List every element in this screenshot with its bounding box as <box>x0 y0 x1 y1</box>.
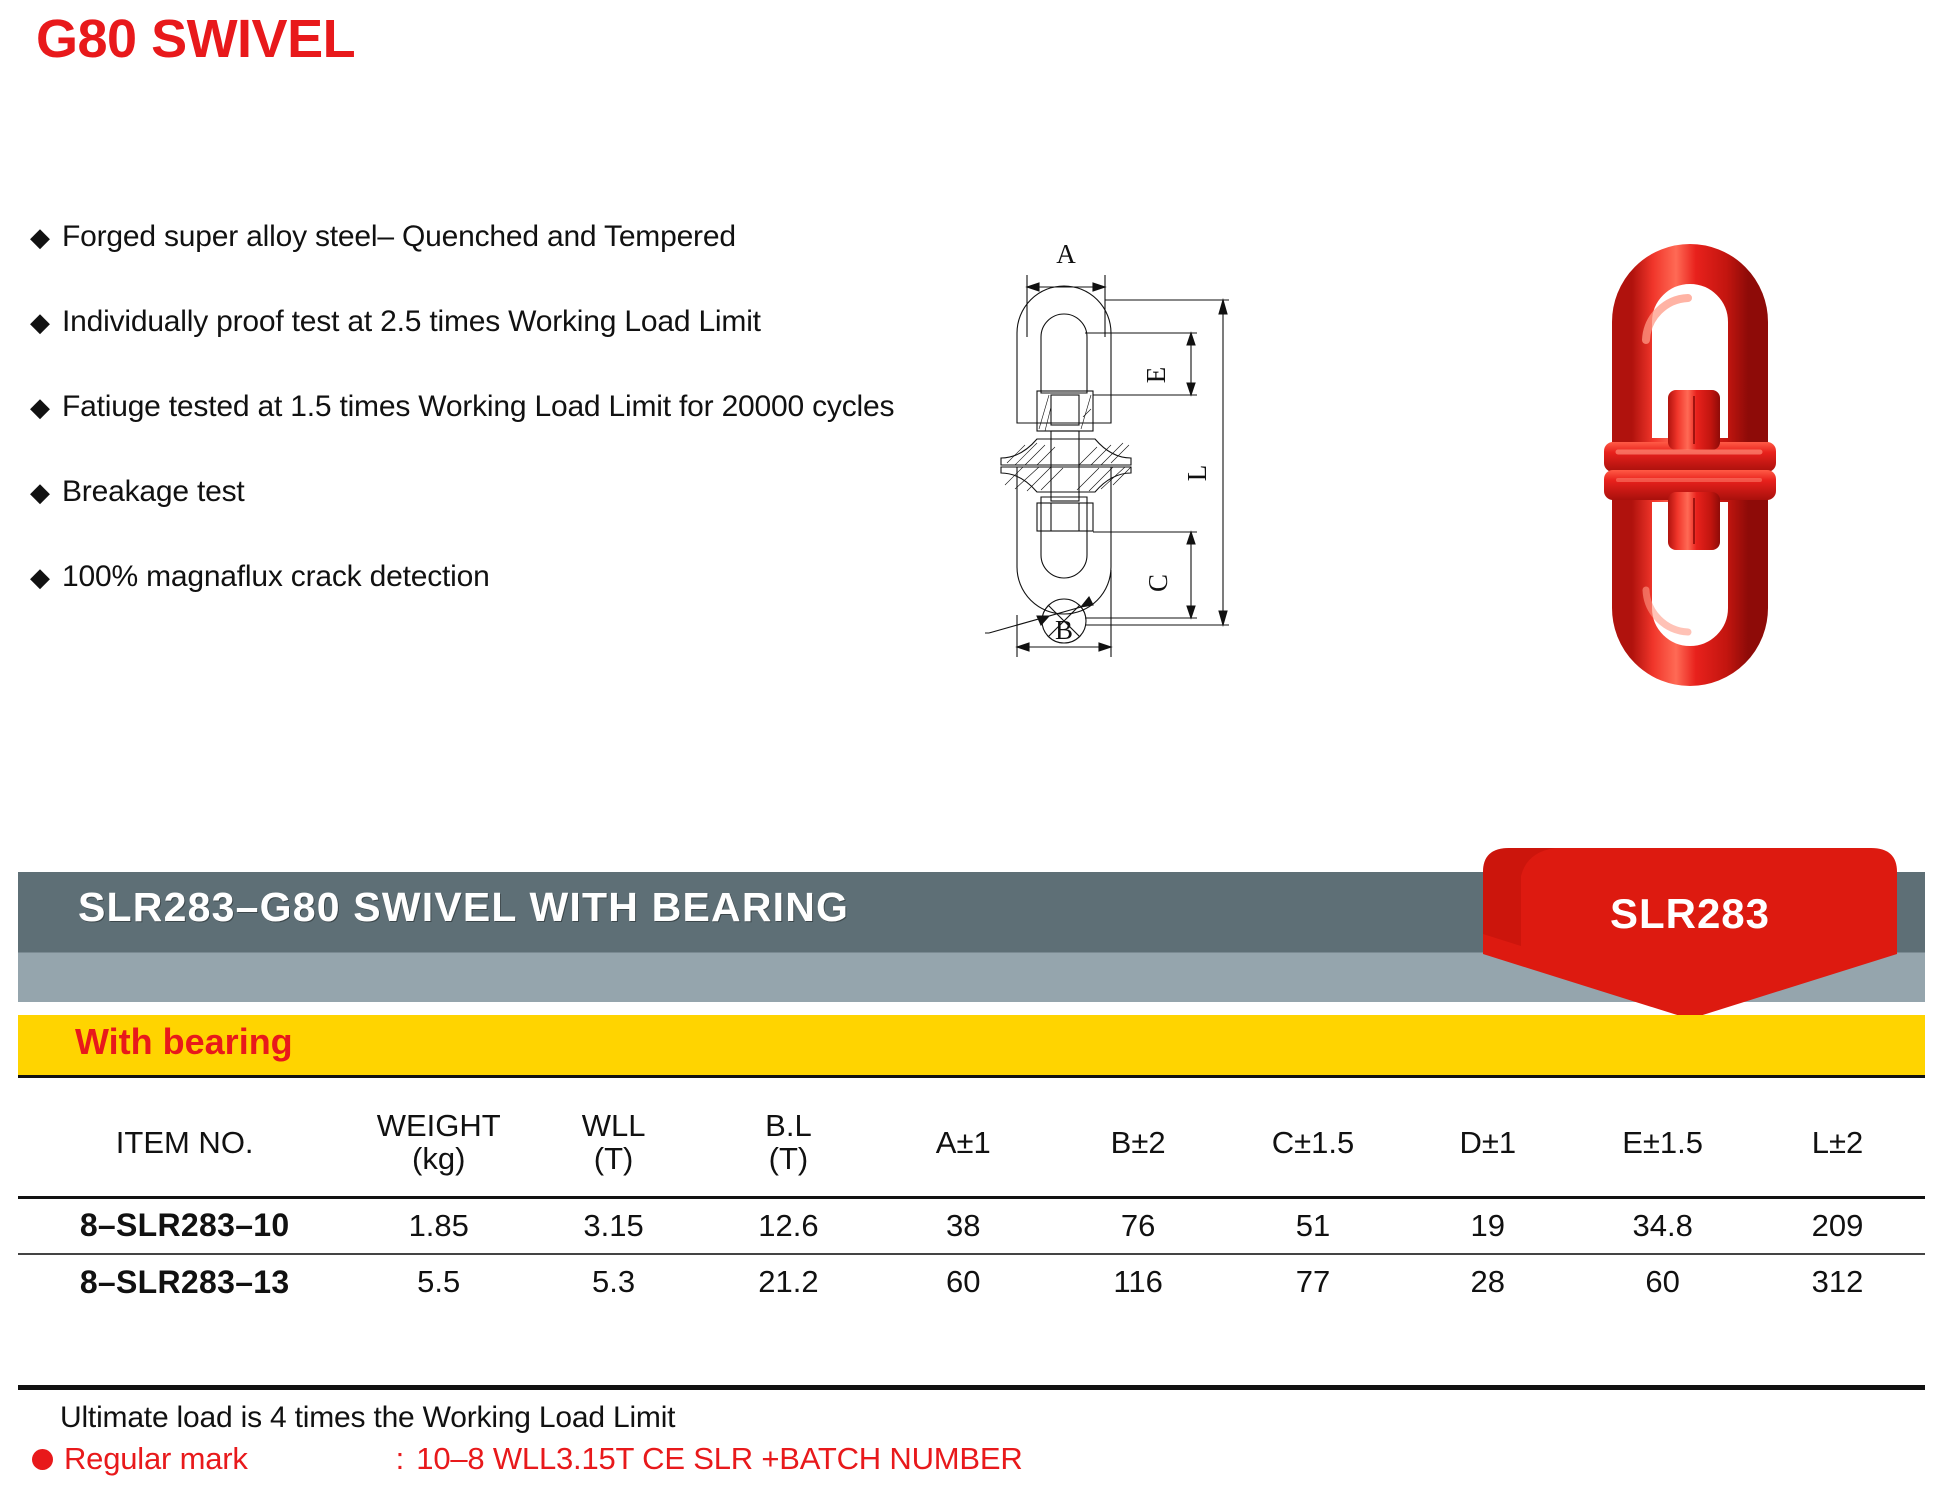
cell-weight: 5.5 <box>351 1254 526 1310</box>
regular-mark-value: 10–8 WLL3.15T CE SLR +BATCH NUMBER <box>416 1441 1022 1477</box>
diamond-bullet-icon: ◆ <box>30 394 50 420</box>
regular-mark-separator: : <box>396 1441 405 1477</box>
dimension-label-c: C <box>1143 574 1173 592</box>
red-dot-icon <box>32 1449 53 1470</box>
cell-item-no: 8–SLR283–13 <box>18 1254 351 1310</box>
cell-wll: 5.3 <box>526 1254 701 1310</box>
table-row: 8–SLR283–10 1.85 3.15 12.6 38 76 51 19 3… <box>18 1198 1925 1254</box>
cell-l: 312 <box>1750 1254 1925 1310</box>
cell-bl: 21.2 <box>701 1254 876 1310</box>
column-header-l: L±2 <box>1750 1090 1925 1198</box>
column-header-bl: B.L (T) <box>701 1090 876 1198</box>
feature-item: ◆ Individually proof test at 2.5 times W… <box>30 307 910 392</box>
cell-item-no: 8–SLR283–10 <box>18 1198 351 1254</box>
cell-d: 19 <box>1400 1198 1575 1254</box>
feature-list: ◆ Forged super alloy steel– Quenched and… <box>30 222 910 647</box>
cell-weight: 1.85 <box>351 1198 526 1254</box>
feature-item-label: Individually proof test at 2.5 times Wor… <box>62 307 761 337</box>
diamond-bullet-icon: ◆ <box>30 564 50 590</box>
cell-a: 38 <box>876 1198 1051 1254</box>
column-header-item-no: ITEM NO. <box>18 1090 351 1198</box>
table-header-row: ITEM NO. WEIGHT (kg) WLL (T) B.L (T) A±1… <box>18 1090 1925 1198</box>
dimension-label-b: B <box>1055 615 1073 645</box>
cell-wll: 3.15 <box>526 1198 701 1254</box>
feature-item: ◆ Breakage test <box>30 477 910 562</box>
page-title: G80 SWIVEL <box>36 8 355 70</box>
product-photo <box>1560 230 1900 690</box>
regular-mark-row: Regular mark : 10–8 WLL3.15T CE SLR +BAT… <box>18 1441 1925 1477</box>
cell-c: 51 <box>1226 1198 1401 1254</box>
dimension-label-a: A <box>1056 239 1076 269</box>
series-badge: SLR283 <box>1465 846 1915 1021</box>
cell-e: 60 <box>1575 1254 1750 1310</box>
column-header-e: E±1.5 <box>1575 1090 1750 1198</box>
ultimate-load-note: Ultimate load is 4 times the Working Loa… <box>60 1401 1925 1435</box>
engineering-drawing: A B E C L D <box>985 215 1285 670</box>
column-header-c: C±1.5 <box>1226 1090 1401 1198</box>
column-header-wll: WLL (T) <box>526 1090 701 1198</box>
series-badge-label: SLR283 <box>1465 890 1915 938</box>
bearing-band: With bearing <box>18 1015 1925 1078</box>
specification-table: ITEM NO. WEIGHT (kg) WLL (T) B.L (T) A±1… <box>18 1090 1925 1310</box>
diamond-bullet-icon: ◆ <box>30 479 50 505</box>
cell-c: 77 <box>1226 1254 1401 1310</box>
table-row: 8–SLR283–13 5.5 5.3 21.2 60 116 77 28 60… <box>18 1254 1925 1310</box>
bearing-band-label: With bearing <box>75 1021 293 1063</box>
dimension-label-l: L <box>1182 465 1212 482</box>
dimension-label-e: E <box>1141 367 1171 384</box>
cell-bl: 12.6 <box>701 1198 876 1254</box>
cell-l: 209 <box>1750 1198 1925 1254</box>
swivel-product-image <box>1560 230 1900 690</box>
column-header-d: D±1 <box>1400 1090 1575 1198</box>
feature-item: ◆ Forged super alloy steel– Quenched and… <box>30 222 910 307</box>
diamond-bullet-icon: ◆ <box>30 309 50 335</box>
feature-item-label: Forged super alloy steel– Quenched and T… <box>62 222 736 252</box>
cell-e: 34.8 <box>1575 1198 1750 1254</box>
series-title: SLR283–G80 SWIVEL WITH BEARING <box>78 884 849 931</box>
regular-mark-label: Regular mark <box>64 1441 248 1477</box>
footer-notes: Ultimate load is 4 times the Working Loa… <box>18 1385 1925 1477</box>
column-header-a: A±1 <box>876 1090 1051 1198</box>
swivel-line-drawing: A B E C L D <box>985 215 1285 670</box>
feature-item-label: Fatiuge tested at 1.5 times Working Load… <box>62 392 894 422</box>
cell-a: 60 <box>876 1254 1051 1310</box>
feature-item-label: Breakage test <box>62 477 245 507</box>
feature-item: ◆ Fatiuge tested at 1.5 times Working Lo… <box>30 392 910 477</box>
cell-b: 76 <box>1051 1198 1226 1254</box>
column-header-weight: WEIGHT (kg) <box>351 1090 526 1198</box>
feature-item-label: 100% magnaflux crack detection <box>62 562 490 592</box>
feature-item: ◆ 100% magnaflux crack detection <box>30 562 910 647</box>
cell-b: 116 <box>1051 1254 1226 1310</box>
column-header-b: B±2 <box>1051 1090 1226 1198</box>
diamond-bullet-icon: ◆ <box>30 224 50 250</box>
cell-d: 28 <box>1400 1254 1575 1310</box>
